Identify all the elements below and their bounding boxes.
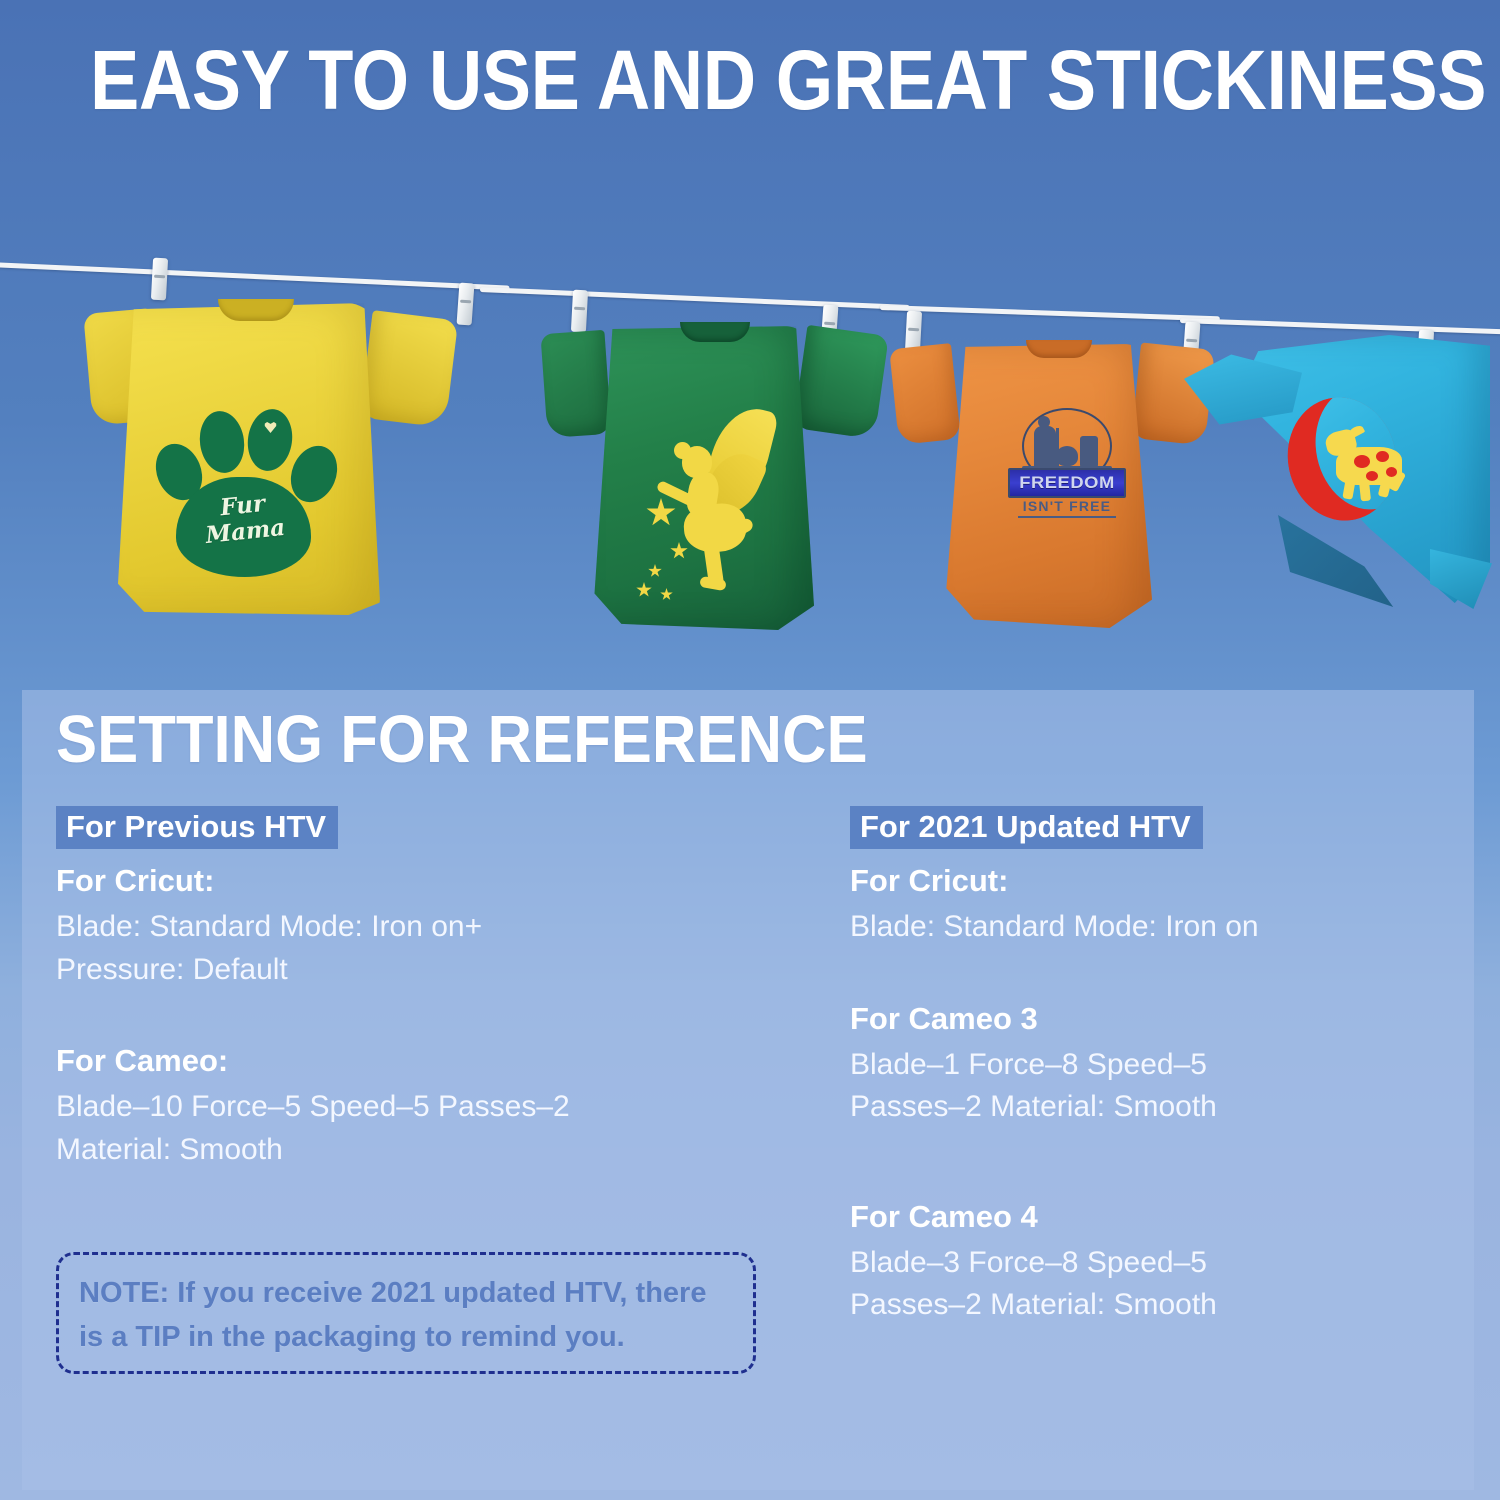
clothesline-segment [880,305,1220,321]
note-text: NOTE: If you receive 2021 updated HTV, t… [79,1271,735,1359]
cow-spot [1386,467,1397,477]
spacer [56,991,766,1045]
cow-graphic [1328,429,1412,495]
section-tag-previous-htv: For Previous HTV [56,806,338,849]
sparkle-star-icon [670,542,688,560]
setting-line: Blade–10 Force–5 Speed–5 Passes–2 [56,1086,766,1129]
setting-line: Material: Smooth [56,1129,766,1172]
setting-line: Blade: Standard Mode: Iron on+ [56,906,766,949]
clothesline-segment [480,287,910,310]
setting-line: Pressure: Default [56,949,766,992]
boots-icon [1080,436,1098,468]
tshirt-yellow: Fur Mama [90,285,460,615]
cow-spot [1354,455,1370,468]
clothesline-segment [1180,318,1500,335]
tshirt-green [548,310,878,630]
shirt-sleeve-right [360,310,459,428]
settings-panel: SETTING FOR REFERENCE For Previous HTV F… [22,690,1474,1490]
note-box: NOTE: If you receive 2021 updated HTV, t… [56,1252,756,1374]
settings-group-cricut-2021: For Cricut: Blade: Standard Mode: Iron o… [850,865,1480,949]
cow-spot [1376,451,1389,462]
tshirt-orange: FREEDOM ISN'T FREE [900,328,1210,628]
freedom-emblem-graphic: FREEDOM ISN'T FREE [1008,408,1126,516]
settings-column-updated-htv: For 2021 Updated HTV For Cricut: Blade: … [850,806,1480,1327]
spacer [850,949,1480,1003]
shirt-design-text-freedom: FREEDOM [1005,473,1128,493]
section-tag-updated-htv: For 2021 Updated HTV [850,806,1203,849]
paw-toe-pad [196,408,248,476]
shirt-collar [680,322,750,342]
emblem-banner: FREEDOM [1008,468,1126,498]
product-infographic: EASY TO USE AND GREAT STICKINESS [0,0,1500,1500]
settings-group-cameo-3: For Cameo 3 Blade–1 Force–8 Speed–5 Pass… [850,1003,1480,1129]
settings-group-cameo-4: For Cameo 4 Blade–3 Force–8 Speed–5 Pass… [850,1201,1480,1327]
emblem-underline [1018,516,1116,518]
shirt-sleeve-left [540,330,611,438]
group-heading-cameo-3: For Cameo 3 [850,1003,1480,1034]
group-heading-cameo: For Cameo: [56,1045,766,1076]
settings-group-cricut: For Cricut: Blade: Standard Mode: Iron o… [56,865,766,991]
group-heading-cricut: For Cricut: [56,865,766,896]
group-heading-cricut: For Cricut: [850,865,1480,896]
setting-line: Blade–3 Force–8 Speed–5 [850,1242,1480,1285]
fairy-graphic [654,406,804,586]
settings-column-previous-htv: For Previous HTV For Cricut: Blade: Stan… [56,806,766,1171]
helmet-icon [1056,446,1078,466]
panel-title: SETTING FOR REFERENCE [56,706,868,773]
spacer [850,1129,1480,1183]
setting-line: Blade: Standard Mode: Iron on [850,906,1480,949]
shirt-collar [1026,340,1092,358]
tshirt-blue [1192,335,1500,610]
setting-line: Blade–1 Force–8 Speed–5 [850,1044,1480,1087]
shirt-sleeve-left [889,343,961,445]
settings-group-cameo: For Cameo: Blade–10 Force–5 Speed–5 Pass… [56,1045,766,1171]
group-heading-cameo-4: For Cameo 4 [850,1201,1480,1232]
paw-print-graphic: Fur Mama [148,397,363,577]
paw-toe-pad [244,406,296,474]
shirt-design-text-isnt-free: ISN'T FREE [1008,498,1126,514]
cow-spot [1366,471,1378,481]
shirt-sleeve-right [793,325,889,439]
setting-line: Passes–2 Material: Smooth [850,1086,1480,1129]
clothesline-photo: Fur Mama [0,0,1500,700]
shirt-collar [218,299,294,321]
setting-line: Passes–2 Material: Smooth [850,1284,1480,1327]
